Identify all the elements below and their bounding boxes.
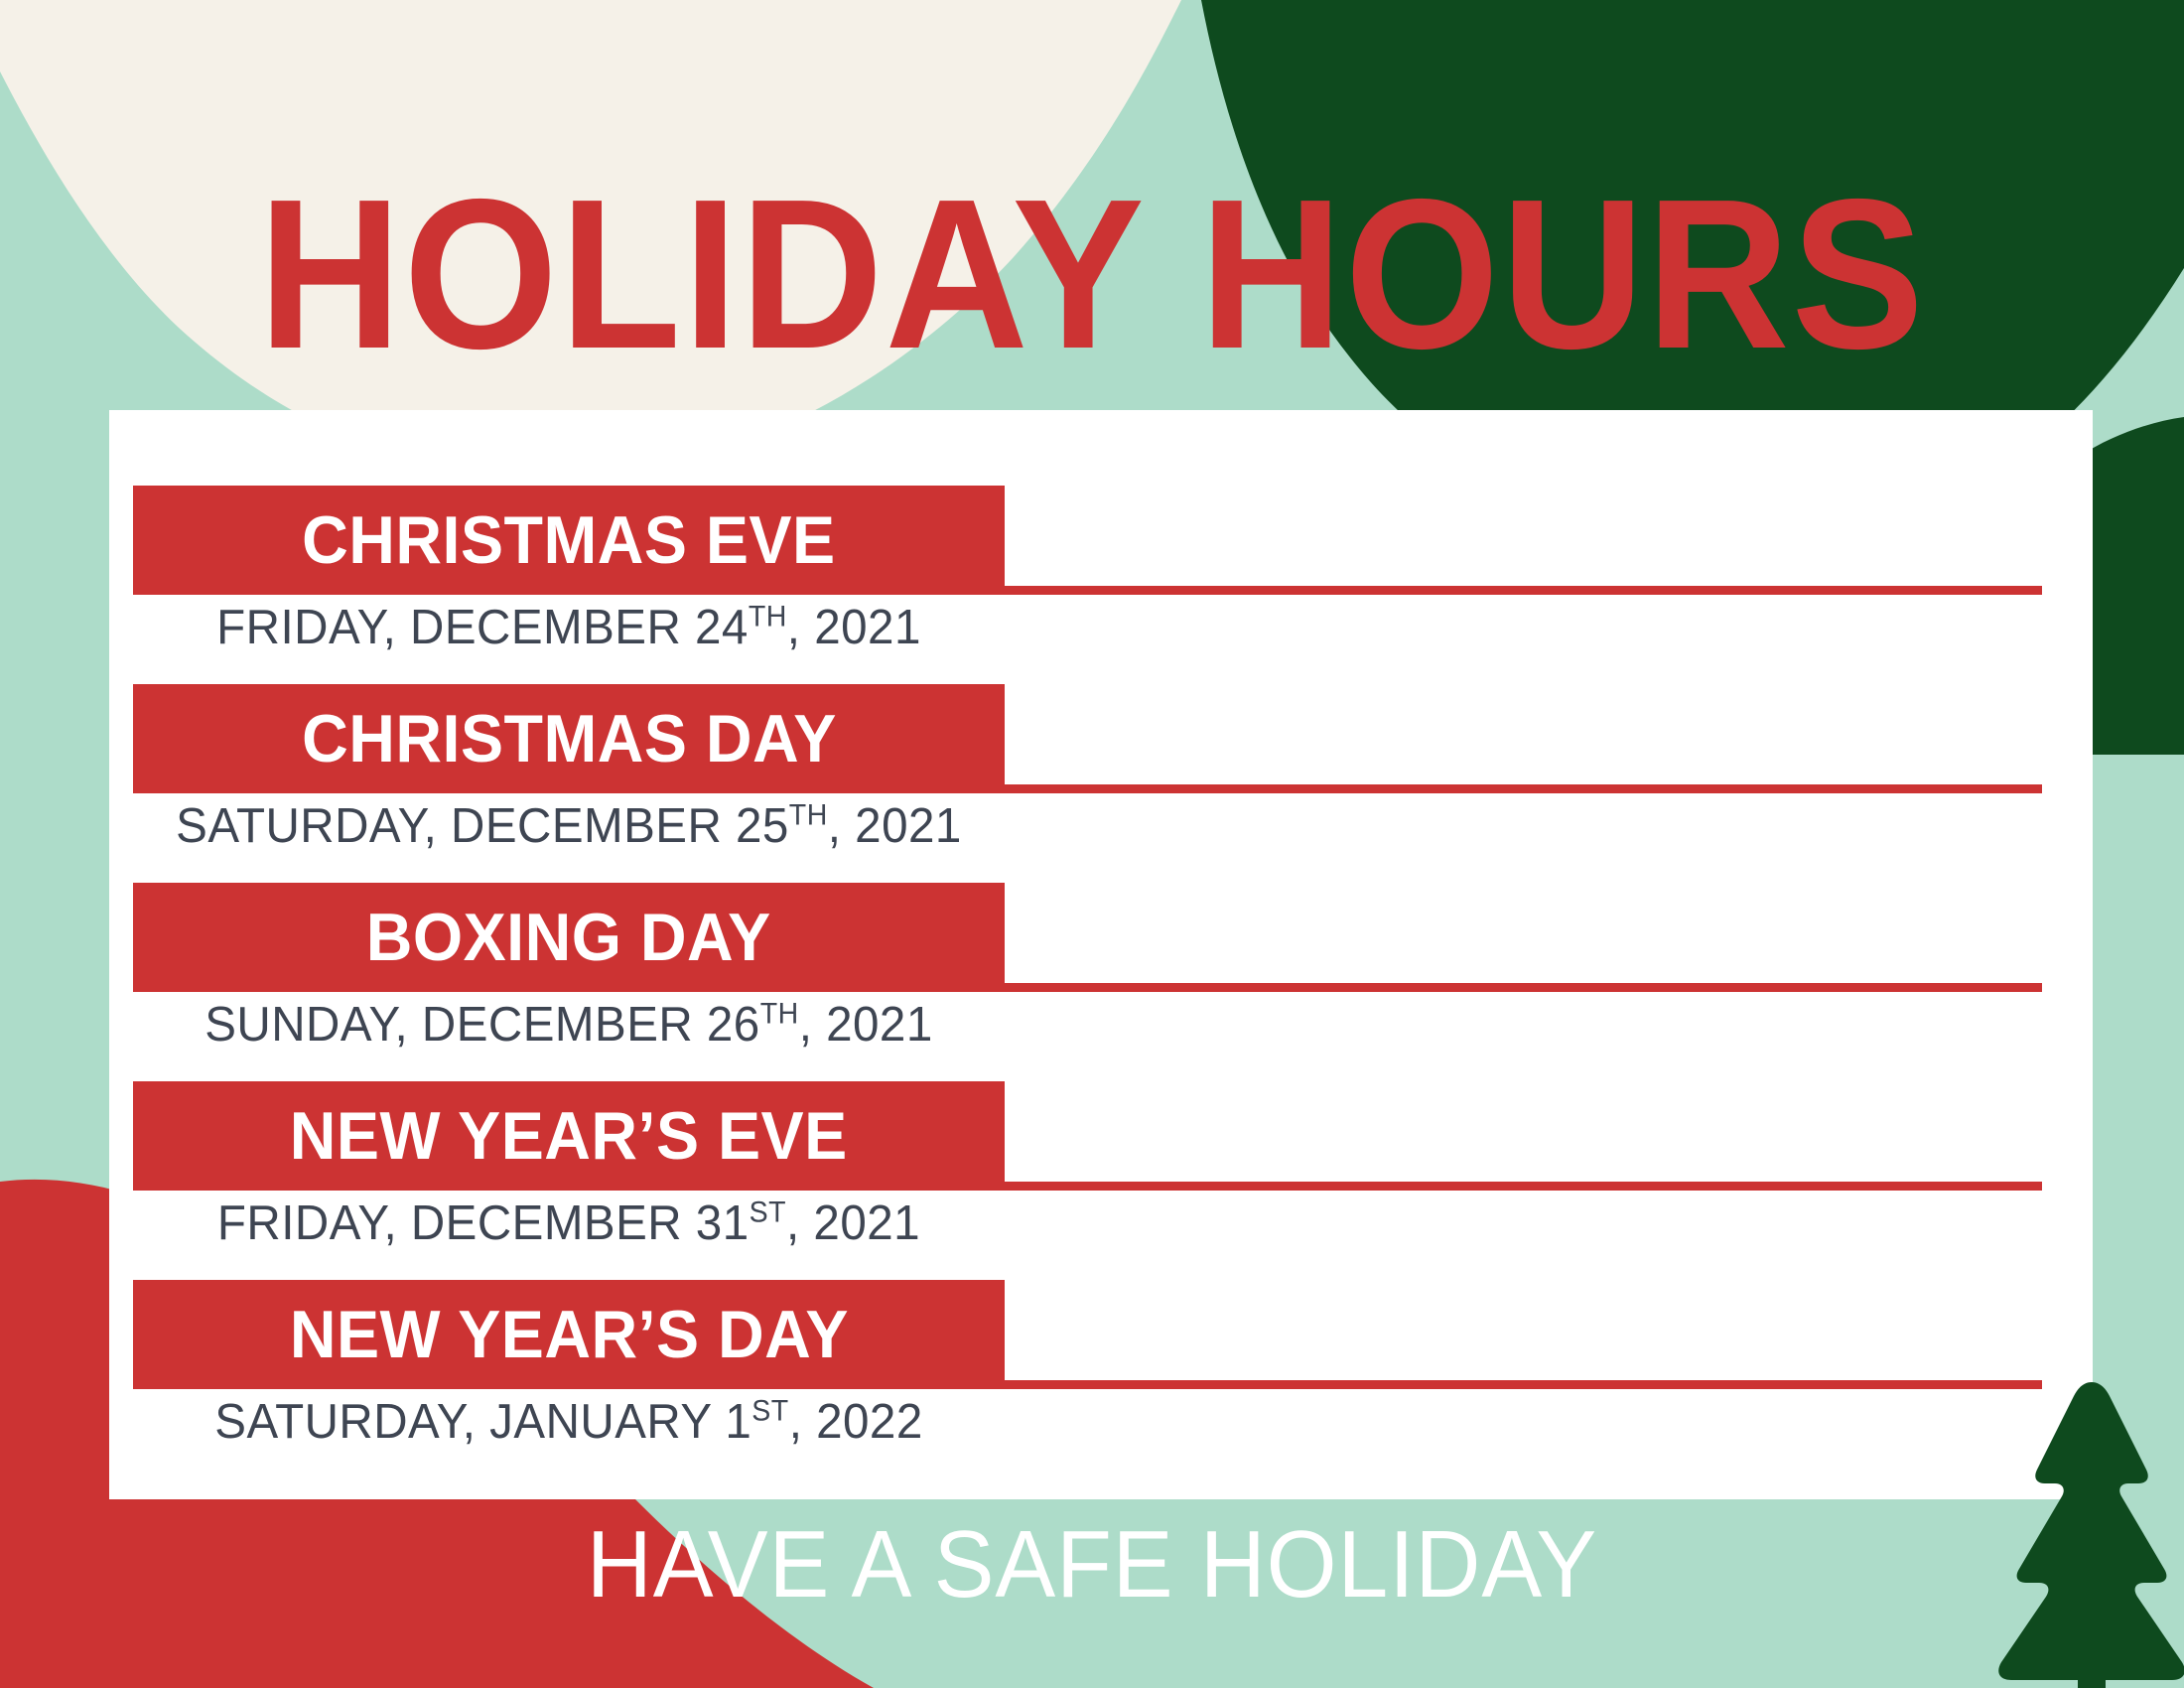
hours-write-in-rule xyxy=(1005,1182,2042,1191)
holiday-name: NEW YEAR’S DAY xyxy=(289,1301,848,1368)
holiday-name-bar: NEW YEAR’S EVE xyxy=(133,1081,1005,1191)
holiday-date-year: , 2021 xyxy=(828,799,962,853)
holiday-date: FRIDAY, DECEMBER 31ST, 2021 xyxy=(146,1198,992,1249)
table-row: CHRISTMAS EVE FRIDAY, DECEMBER 24TH, 202… xyxy=(133,486,2093,680)
tagline: HAVE A SAFE HOLIDAY xyxy=(55,1517,2129,1613)
hours-write-in-rule xyxy=(1005,784,2042,793)
holiday-date-main: SATURDAY, JANUARY 1 xyxy=(214,1395,751,1449)
holiday-name-bar: CHRISTMAS DAY xyxy=(133,684,1005,793)
holiday-date-main: SUNDAY, DECEMBER 26 xyxy=(205,998,760,1052)
holiday-date: SUNDAY, DECEMBER 26TH, 2021 xyxy=(146,1000,992,1051)
hours-card: CHRISTMAS EVE FRIDAY, DECEMBER 24TH, 202… xyxy=(109,410,2093,1499)
hours-write-in-rule xyxy=(1005,586,2042,595)
table-row: NEW YEAR’S EVE FRIDAY, DECEMBER 31ST, 20… xyxy=(133,1081,2093,1276)
table-row: BOXING DAY SUNDAY, DECEMBER 26TH, 2021 xyxy=(133,883,2093,1077)
holiday-name-bar: BOXING DAY xyxy=(133,883,1005,992)
holiday-name: BOXING DAY xyxy=(366,904,771,971)
holiday-name-bar: NEW YEAR’S DAY xyxy=(133,1280,1005,1389)
holiday-date-ordinal: ST xyxy=(751,1395,788,1428)
holiday-hours-poster: HOLIDAY HOURS CHRISTMAS EVE FRIDAY, DECE… xyxy=(0,0,2184,1688)
holiday-date-ordinal: TH xyxy=(760,998,799,1031)
holiday-date-ordinal: ST xyxy=(750,1196,786,1229)
holiday-date-ordinal: TH xyxy=(789,799,828,832)
hours-write-in-rule xyxy=(1005,983,2042,992)
hours-write-in-rule xyxy=(1005,1380,2042,1389)
holiday-name: CHRISTMAS EVE xyxy=(302,506,835,574)
table-row: NEW YEAR’S DAY SATURDAY, JANUARY 1ST, 20… xyxy=(133,1280,2093,1475)
holiday-date-year: , 2021 xyxy=(799,998,933,1052)
holiday-date: SATURDAY, DECEMBER 25TH, 2021 xyxy=(146,801,992,852)
holiday-date-main: FRIDAY, DECEMBER 31 xyxy=(217,1196,750,1250)
holiday-date: FRIDAY, DECEMBER 24TH, 2021 xyxy=(146,603,992,653)
holiday-name: CHRISTMAS DAY xyxy=(302,705,837,773)
holiday-date: SATURDAY, JANUARY 1ST, 2022 xyxy=(146,1397,992,1448)
holiday-date-main: SATURDAY, DECEMBER 25 xyxy=(176,799,789,853)
table-row: CHRISTMAS DAY SATURDAY, DECEMBER 25TH, 2… xyxy=(133,684,2093,879)
holiday-date-year: , 2021 xyxy=(787,601,921,654)
holiday-name: NEW YEAR’S EVE xyxy=(290,1102,848,1170)
holiday-date-ordinal: TH xyxy=(749,601,787,633)
page-title: HOLIDAY HOURS xyxy=(76,167,2108,380)
holiday-date-year: , 2022 xyxy=(789,1395,923,1449)
holiday-date-main: FRIDAY, DECEMBER 24 xyxy=(216,601,749,654)
holiday-name-bar: CHRISTMAS EVE xyxy=(133,486,1005,595)
holiday-date-year: , 2021 xyxy=(786,1196,920,1250)
